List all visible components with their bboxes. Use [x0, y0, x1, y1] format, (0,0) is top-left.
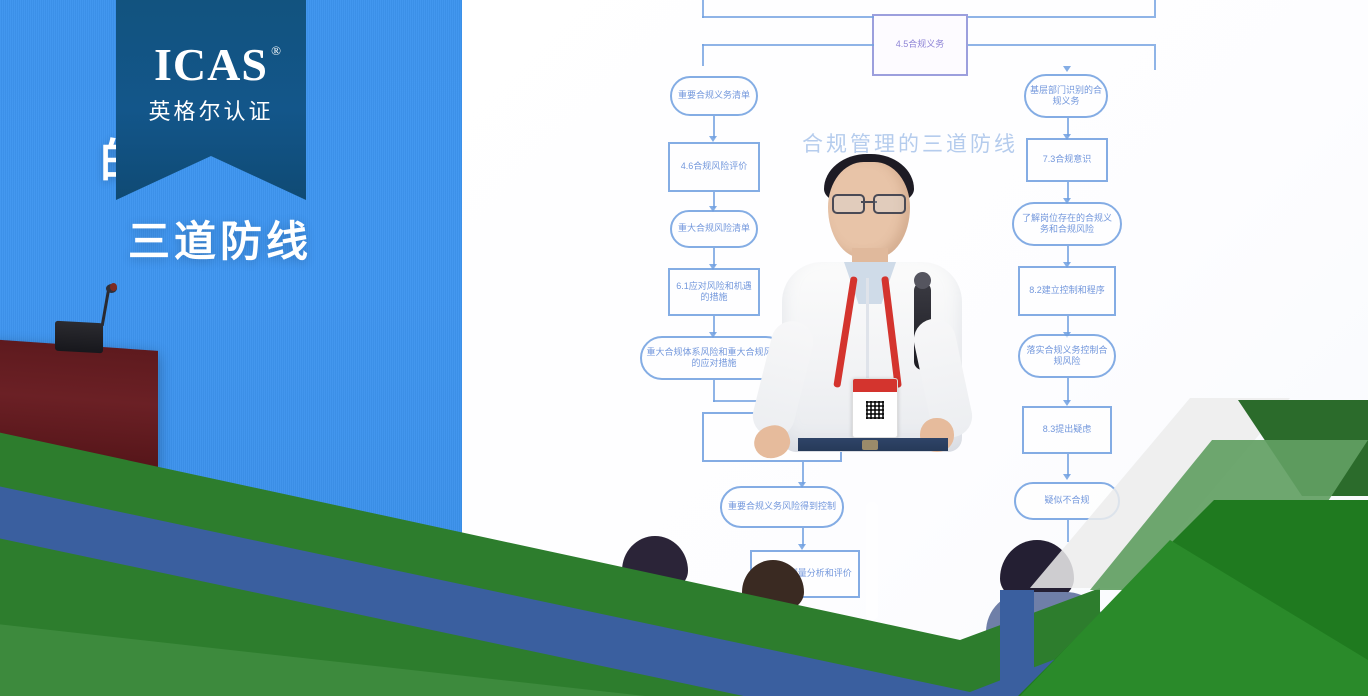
flow-node-right-2: 了解岗位存在的合规义务和合规风险: [1012, 202, 1122, 246]
flow-node-left-1: 4.6合规风险评价: [668, 142, 760, 192]
flow-node-left-0: 重要合规义务清单: [670, 76, 758, 116]
eyeglasses-icon: [832, 194, 906, 210]
flow-node-right-6: 疑似不合规: [1014, 482, 1120, 520]
belt-buckle-icon: [862, 440, 878, 450]
audience-shoulder: [986, 592, 1106, 662]
flow-arrow-icon: [1063, 474, 1071, 480]
logo-wordmark: ICAS ®: [154, 42, 268, 88]
podium-control-box: [55, 321, 103, 354]
conference-badge: [852, 378, 898, 438]
podium-microphone-tip: [110, 283, 117, 291]
flow-connector: [1067, 454, 1069, 476]
qr-code-icon: [866, 401, 884, 419]
flow-connector: [702, 44, 704, 66]
slide-headline-line2: 三道防线: [128, 208, 468, 269]
flow-connector: [702, 0, 704, 18]
flow-connector: [702, 44, 874, 46]
flow-connector: [968, 44, 1154, 46]
registered-trademark-icon: ®: [271, 44, 282, 57]
flow-node-right-3: 8.2建立控制和程序: [1018, 266, 1116, 316]
speaker-leg-separation: [866, 502, 878, 620]
flow-connector: [713, 380, 715, 402]
flow-connector: [968, 16, 1154, 18]
flow-connector: [1154, 0, 1156, 18]
flow-connector: [1067, 520, 1069, 542]
flow-node-right-4: 落实合规义务控制合规风险: [1018, 334, 1116, 378]
flow-node-right-0: 基层部门识别的合规义务: [1024, 74, 1108, 118]
flow-connector: [1067, 378, 1069, 402]
flow-node-left-3: 6.1应对风险和机遇的措施: [668, 268, 760, 316]
flow-node-accent: 4.5合规义务: [872, 14, 968, 76]
flow-node-right-1: 7.3合规意识: [1026, 138, 1108, 182]
banner-content: ICAS ® 英格尔认证: [116, 42, 306, 126]
flow-node-right-5: 8.3提出疑虑: [1022, 406, 1112, 454]
logo-chinese-name: 英格尔认证: [116, 94, 306, 126]
logo-text: ICAS: [154, 39, 268, 90]
flow-connector: [1154, 44, 1156, 70]
podium: [0, 339, 158, 471]
flow-node-left-2: 重大合规风险清单: [670, 210, 758, 248]
badge-header: [853, 379, 897, 392]
flow-connector: [702, 16, 874, 18]
flow-connector: [713, 116, 715, 138]
flow-arrow-icon: [1063, 66, 1071, 72]
speaker-figure: [770, 150, 980, 620]
presentation-photo: 的 三道防线 ICAS ® 英格尔认证 合规管理的三道防线 4.5合规义务 重要…: [0, 0, 1368, 696]
